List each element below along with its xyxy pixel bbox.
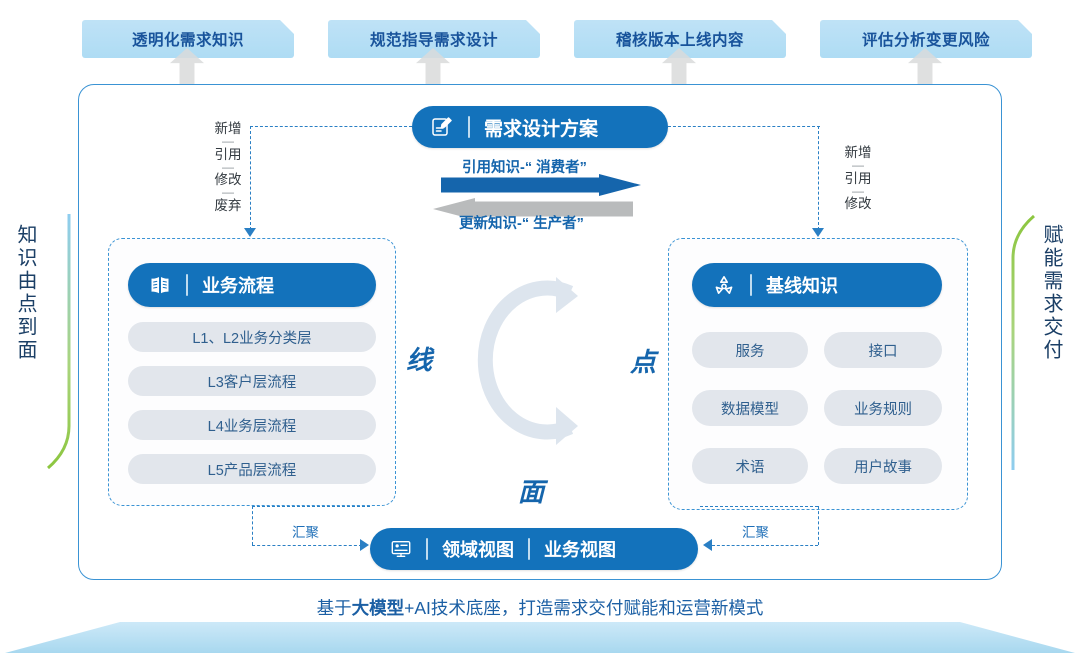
- connector-arrowhead-left: [244, 228, 256, 237]
- cycle-arrows-icon: [452, 255, 627, 470]
- process-item-3[interactable]: L5产品层流程: [128, 454, 376, 484]
- aggregate-right-top-h: [700, 506, 818, 507]
- up-arrow-icon-2: [662, 48, 696, 84]
- knowledge-item-label: 术语: [736, 456, 765, 477]
- process-item-1[interactable]: L3客户层流程: [128, 366, 376, 396]
- top-banner-label: 评估分析变更风险: [862, 28, 990, 50]
- requirement-design-title: 需求设计方案: [484, 114, 598, 141]
- business-process-title: 业务流程: [202, 272, 274, 298]
- board-view-icon: [390, 538, 412, 560]
- cycle-label-point: 点: [630, 342, 656, 379]
- knowledge-item-label: 用户故事: [854, 456, 912, 477]
- produce-knowledge-label: 更新知识-“ 生产者”: [459, 212, 584, 233]
- view-box[interactable]: 领域视图 业务视图: [370, 528, 698, 570]
- knowledge-item-4[interactable]: 术语: [692, 448, 808, 484]
- business-view-label: 业务视图: [544, 536, 616, 562]
- process-item-label: L3客户层流程: [208, 371, 297, 392]
- connector-top-right-v: [818, 126, 819, 230]
- process-item-2[interactable]: L4业务层流程: [128, 410, 376, 440]
- up-arrow-icon-0: [170, 48, 204, 84]
- connector-arrowhead-right: [812, 228, 824, 237]
- knowledge-item-label: 业务规则: [854, 398, 912, 419]
- knowledge-item-1[interactable]: 接口: [824, 332, 942, 368]
- right-operations-label: 新增 — 引用 — 修改: [830, 146, 886, 211]
- left-side-caption: 知识由点到面: [14, 224, 35, 454]
- document-edit-icon: [430, 115, 454, 139]
- aggregate-left-top-h: [252, 506, 370, 507]
- op-item: 修改: [845, 196, 872, 211]
- pill-divider: [528, 538, 530, 560]
- up-arrow-icon-1: [416, 48, 450, 84]
- aggregate-left-v: [252, 506, 253, 545]
- diagram-canvas: 透明化需求知识 规范指导需求设计 稽核版本上线内容 评估分析变更风险 需求设计方…: [0, 0, 1080, 664]
- aggregate-right-arrowhead: [703, 539, 712, 551]
- caption-prefix: 基于: [317, 598, 352, 618]
- aggregate-right-v: [818, 506, 819, 545]
- domain-view-label: 领域视图: [442, 536, 514, 562]
- footer-caption: 基于大模型+AI技术底座，打造需求交付赋能和运营新模式: [0, 595, 1080, 620]
- knowledge-item-label: 接口: [869, 340, 898, 361]
- aggregate-left-label: 汇聚: [292, 521, 319, 541]
- pill-divider: [468, 116, 470, 138]
- process-item-0[interactable]: L1、L2业务分类层: [128, 322, 376, 352]
- business-process-header[interactable]: 业务流程: [128, 263, 376, 307]
- base-platform: [0, 622, 1080, 656]
- process-book-icon: [148, 273, 172, 297]
- knowledge-item-label: 数据模型: [721, 398, 779, 419]
- process-item-label: L5产品层流程: [208, 459, 297, 480]
- top-banner-label: 规范指导需求设计: [370, 28, 498, 50]
- knowledge-item-3[interactable]: 业务规则: [824, 390, 942, 426]
- right-accent-curve: [1004, 212, 1040, 474]
- knowledge-item-5[interactable]: 用户故事: [824, 448, 942, 484]
- pill-divider: [750, 274, 752, 296]
- top-banner-label: 透明化需求知识: [132, 28, 244, 50]
- process-item-label: L4业务层流程: [208, 415, 297, 436]
- cycle-label-line: 线: [406, 340, 432, 377]
- knowledge-item-0[interactable]: 服务: [692, 332, 808, 368]
- connector-top-right-h: [668, 126, 820, 127]
- connector-top-left-h: [250, 126, 412, 127]
- right-side-caption: 赋能需求交付: [1040, 224, 1061, 454]
- caption-suffix: +AI技术底座，打造需求交付赋能和运营新模式: [404, 598, 763, 618]
- baseline-knowledge-header[interactable]: 基线知识: [692, 263, 942, 307]
- pill-divider: [186, 274, 188, 296]
- aggregate-right-bottom-h: [712, 545, 818, 546]
- knowledge-item-label: 服务: [736, 340, 765, 361]
- op-item: 废弃: [215, 198, 242, 213]
- consume-knowledge-label: 引用知识-“ 消费者”: [462, 156, 587, 177]
- recycle-knowledge-icon: [712, 273, 736, 297]
- pill-divider: [426, 538, 428, 560]
- aggregate-right-label: 汇聚: [742, 521, 769, 541]
- baseline-knowledge-title: 基线知识: [766, 272, 838, 298]
- cycle-label-plane: 面: [518, 472, 544, 509]
- aggregate-left-arrowhead: [360, 539, 369, 551]
- left-operations-label: 新增 — 引用 — 修改 — 废弃: [200, 122, 256, 213]
- caption-strong: 大模型: [352, 598, 405, 618]
- top-banner-label: 稽核版本上线内容: [616, 28, 744, 50]
- requirement-design-box[interactable]: 需求设计方案: [412, 106, 668, 148]
- up-arrow-icon-3: [908, 48, 942, 84]
- left-accent-curve: [42, 212, 78, 474]
- aggregate-left-bottom-h: [252, 545, 362, 546]
- knowledge-item-2[interactable]: 数据模型: [692, 390, 808, 426]
- process-item-label: L1、L2业务分类层: [192, 327, 311, 348]
